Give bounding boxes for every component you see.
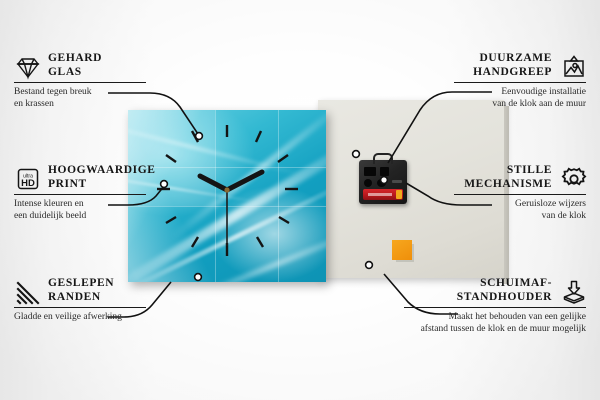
feature-title: HOOGWAARDIGE PRINT	[48, 164, 156, 191]
divider	[454, 82, 586, 83]
callout-dot	[366, 262, 373, 269]
feature-subtitle: Geruisloze wijzers van de klok	[454, 199, 586, 222]
feature-subtitle: Bestand tegen breuk en krassen	[14, 87, 146, 110]
divider	[404, 307, 586, 308]
callout-dot	[161, 181, 168, 188]
callout-dot	[381, 177, 388, 184]
feature-subtitle: Eenvoudige installatie van de klok aan d…	[454, 87, 586, 110]
gear-icon	[560, 166, 586, 190]
ultra-hd-icon: ultra HD	[14, 166, 40, 190]
feature-hoogwaardige-print[interactable]: ultra HD HOOGWAARDIGE PRINT Intense kleu…	[14, 164, 146, 222]
beveled-edge-icon	[14, 279, 40, 303]
feature-geslepen-randen[interactable]: GESLEPEN RANDEN Gladde en veilige afwerk…	[14, 277, 146, 324]
picture-frame-icon	[560, 54, 586, 78]
feature-title: GEHARD GLAS	[48, 52, 102, 79]
svg-text:HD: HD	[21, 178, 35, 189]
press-pad-icon	[560, 279, 586, 303]
feature-schuimaf-standhouder[interactable]: SCHUIMAF- STANDHOUDER Maakt het behouden…	[404, 277, 586, 335]
diamond-icon	[14, 54, 40, 78]
callout-dot	[353, 151, 360, 158]
feature-title: DUURZAME HANDGREEP	[473, 52, 552, 79]
divider	[14, 307, 146, 308]
feature-subtitle: Intense kleuren en een duidelijk beeld	[14, 199, 146, 222]
feature-subtitle: Maakt het behouden van een gelijke afsta…	[404, 312, 586, 335]
callout-dot	[196, 133, 203, 140]
feature-title: GESLEPEN RANDEN	[48, 277, 114, 304]
infographic-canvas: GEHARD GLAS Bestand tegen breuk en krass…	[0, 0, 600, 400]
divider	[454, 194, 586, 195]
feature-duurzame-handgreep[interactable]: DUURZAME HANDGREEP Eenvoudige installati…	[454, 52, 586, 110]
feature-subtitle: Gladde en veilige afwerking	[14, 312, 146, 324]
callout-dot	[195, 274, 202, 281]
feature-gehard-glas[interactable]: GEHARD GLAS Bestand tegen breuk en krass…	[14, 52, 146, 110]
divider	[14, 194, 146, 195]
divider	[14, 82, 146, 83]
feature-stille-mechanisme[interactable]: STILLE MECHANISME Geruisloze wijzers van…	[454, 164, 586, 222]
feature-title: SCHUIMAF- STANDHOUDER	[457, 277, 552, 304]
feature-title: STILLE MECHANISME	[464, 164, 552, 191]
